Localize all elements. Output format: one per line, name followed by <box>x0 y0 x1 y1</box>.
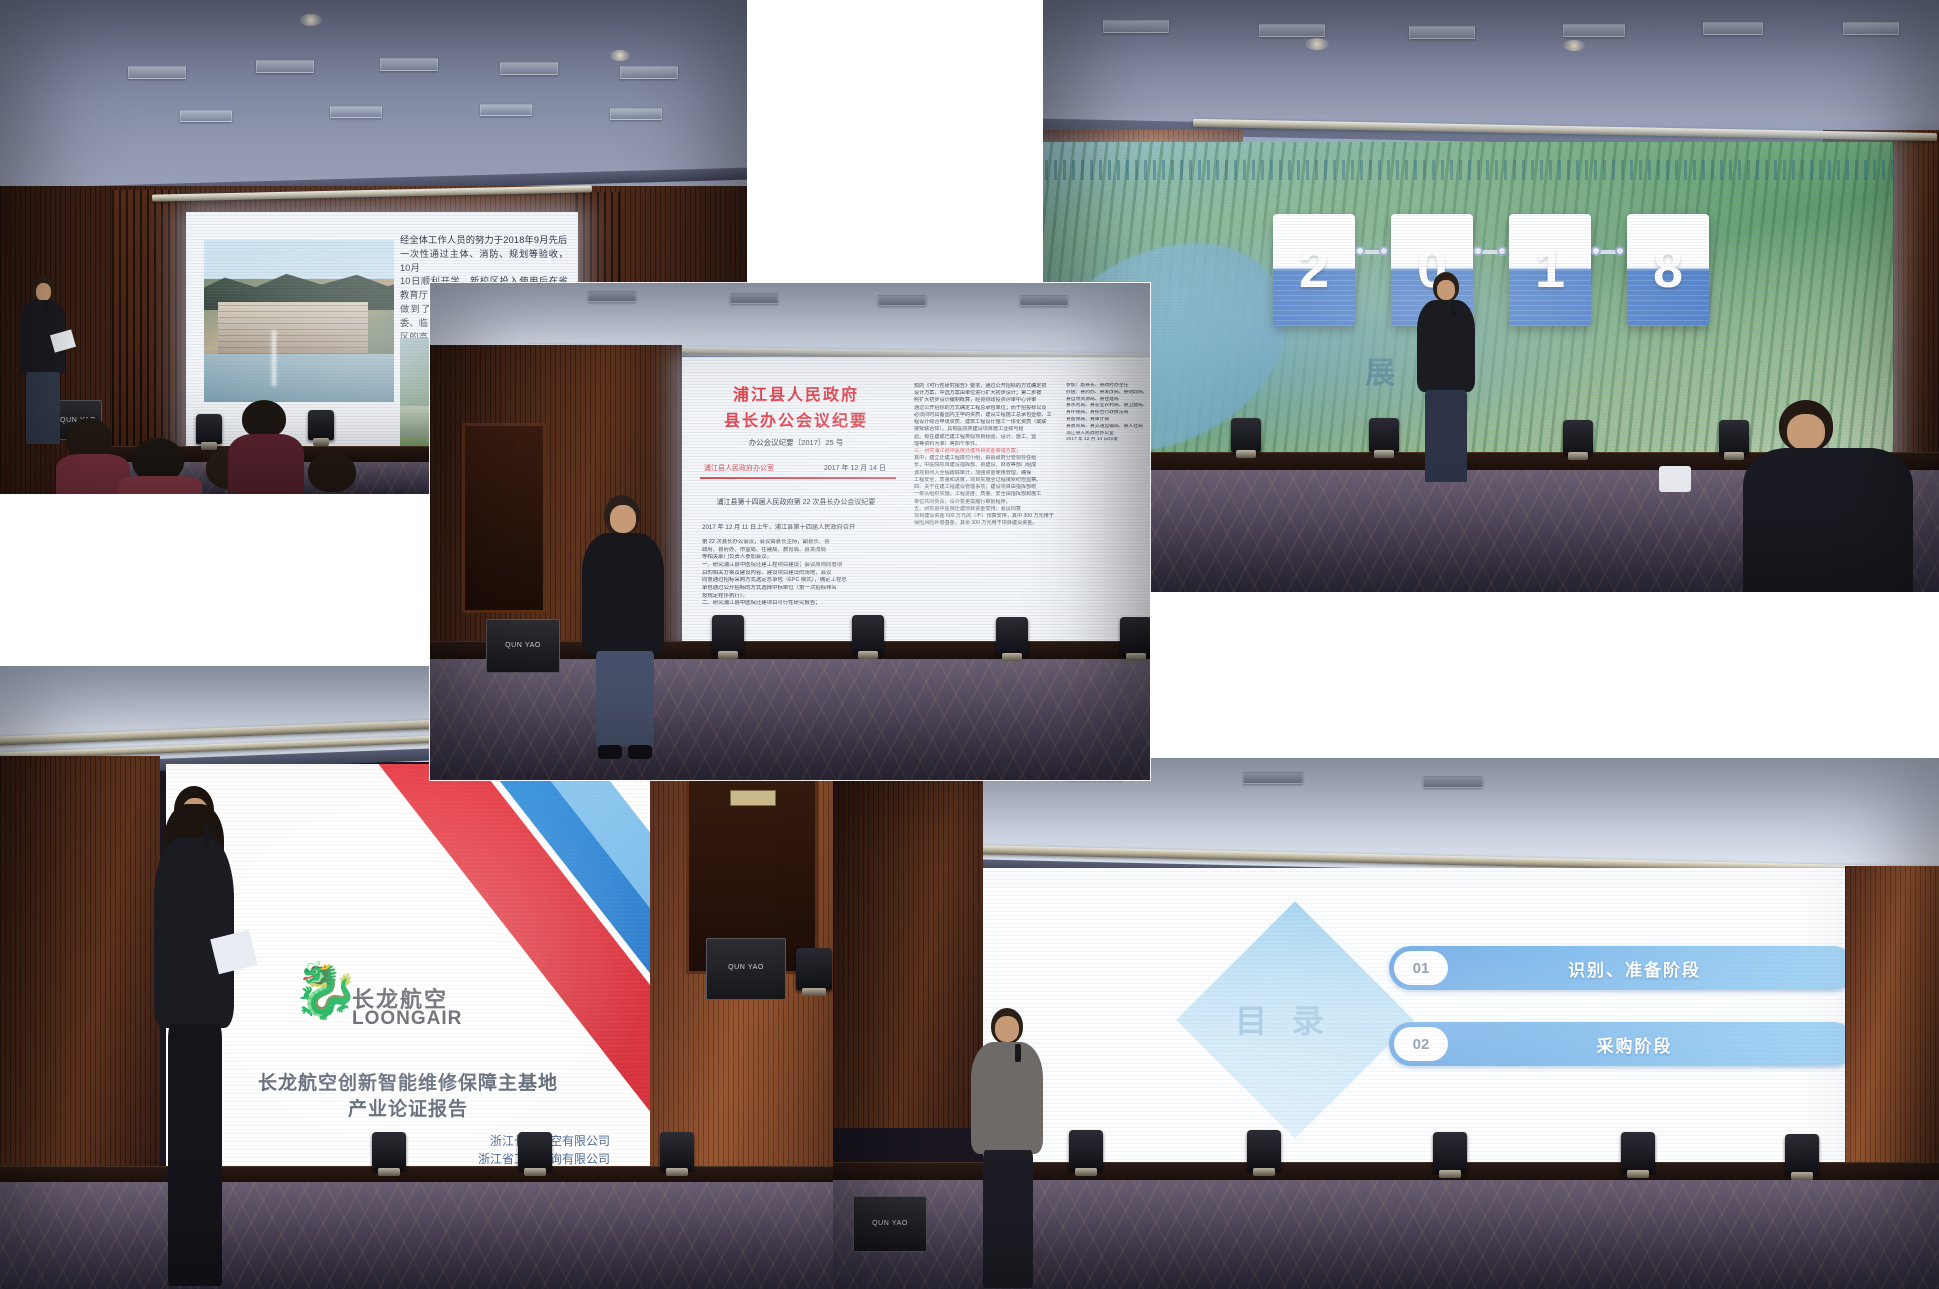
slide-left-column: 第 22 次县长办公会议，会议由县长主持，副县长、县 政府、县府办、市监局、住建… <box>702 539 900 608</box>
ceiling-vent <box>878 295 926 306</box>
flip-pin <box>1591 246 1601 256</box>
stage-light <box>1433 1132 1467 1172</box>
wall-wood-panel <box>0 756 160 1176</box>
stage-light <box>308 410 334 440</box>
projection-screen-minutes: 浦江县人民政府 县长办公会议纪要 办公会议纪要〔2017〕25 号 浦江县人民政… <box>682 357 1150 649</box>
projection-screen-agenda: 目 录 01 识别、准备阶段 02 采购阶段 <box>983 868 1845 1168</box>
slide-subtitle: 浦江县第十四届人民政府第 22 次县长办公会议纪要 <box>690 497 902 507</box>
ceiling-vent <box>1243 772 1303 784</box>
doc-line: 程设计综合甲级资质、建筑工程设计施工一体化资质（或联 <box>914 419 1056 426</box>
doc-line: 抄送：县府办、县发改局、县财政局、县科技局、县国土局 <box>1066 390 1146 397</box>
slide-title-line2: 县长办公会议纪要 <box>690 407 902 431</box>
doc-line: 县自然资源局、县住建局 <box>1066 397 1146 404</box>
downlight <box>300 14 322 26</box>
doc-line: 县环保局、县综合行政执法局 <box>1066 410 1146 417</box>
doc-line: 必须同时具备国内主甲的资质，建设工程施工总承包壹级、工 <box>914 412 1056 419</box>
ceiling-vent <box>1020 295 1068 306</box>
flipcard-digit: 1 <box>1509 214 1591 326</box>
ceiling-vent <box>1103 20 1169 33</box>
ceiling-vent <box>1843 22 1899 35</box>
doc-line: 五、研究县中医院迁建项目资金安排；会议同意 <box>914 506 1056 513</box>
stage-light <box>1247 1130 1281 1170</box>
slide-caption-partial: 展 <box>1365 348 1395 392</box>
screen-scanlines <box>983 868 1845 1168</box>
flip-pin <box>1497 246 1507 256</box>
ceiling-vent <box>1563 24 1625 37</box>
digit-value: 1 <box>1509 242 1591 296</box>
doc-line: 一牵头组织实施，工程进度、质量、安全由指挥部和施工 <box>914 491 1056 498</box>
ceiling-vent <box>380 58 438 71</box>
ceiling-vent <box>1409 26 1475 39</box>
flight-case: QUN YAO <box>486 619 560 673</box>
stage-light <box>1231 418 1261 452</box>
doc-line: 四、关于在建工程建设管理事项；建设项目由指挥部统 <box>914 484 1056 491</box>
ceiling-vent <box>480 104 532 116</box>
doc-line: 县医保局、县审计局 <box>1066 417 1146 424</box>
doc-line: 承包通过公开招标的方式选择中标单位（第一次招标排名 <box>702 585 900 593</box>
presenter-figure <box>140 786 250 1286</box>
stage-light <box>796 948 832 990</box>
stage-light <box>1621 1132 1655 1172</box>
slide-line: 一次性通过主体、消防、规划等验收，10月 <box>400 248 568 276</box>
slide-body-opening: 2017 年 12 月 11 日上午，浦江县第十四届人民政府召开 <box>702 523 898 532</box>
slide-photo-campus <box>204 240 394 402</box>
stage-light <box>1120 617 1150 655</box>
speaker-figure <box>1411 272 1483 482</box>
audience-head <box>228 400 304 494</box>
ceiling-vent <box>1423 776 1483 788</box>
doc-line: 理等资料为准）等四个条件。 <box>914 441 1056 448</box>
slide-middle-column: 知的《可行性研究报告》要求，通过公开招标的方式确定初 设计方案，中选方案由单位进… <box>914 383 1056 527</box>
slide-doc-number: 办公会议纪要〔2017〕25 号 <box>690 437 902 448</box>
speaker-figure <box>961 1008 1057 1288</box>
doc-line: 同意通过招标采购方式选定总承包（EPC 模式），确定工程总 <box>702 577 900 585</box>
doc-line: 等相关部门负责人参加会议。 <box>702 554 900 562</box>
slide-divider <box>700 477 896 479</box>
panel-top-right: 2 0 1 8 展 <box>1043 0 1939 592</box>
case-label: QUN YAO <box>707 964 785 971</box>
flip-pin <box>1615 246 1625 256</box>
slide-line: 经全体工作人员的努力于2018年9月先后 <box>400 234 568 248</box>
doc-line: 通过公开招标的方式确定工程总承包单位；而于招投标以及 <box>914 405 1056 412</box>
flipcard-digit: 2 <box>1273 214 1355 326</box>
slide-right-column: 参加：副县长、县政府办主任 抄送：县府办、县发改局、县财政局、县科技局、县国土局… <box>1066 383 1146 444</box>
speaker-figure <box>572 495 676 763</box>
slide-title-line1: 浦江县人民政府 <box>690 381 902 405</box>
digit-value: 8 <box>1627 242 1709 296</box>
ceiling-vent <box>128 66 186 79</box>
doc-line: 按规定程序执行）。 <box>702 593 900 601</box>
shoe <box>598 745 622 759</box>
flight-case: QUN YAO <box>853 1196 927 1252</box>
panel-center: 浦江县人民政府 县长办公会议纪要 办公会议纪要〔2017〕25 号 浦江县人民政… <box>430 283 1150 780</box>
stage-light <box>712 615 744 653</box>
flip-pin <box>1379 246 1389 256</box>
doc-line: 工程安全、质量和进度，项目实施全过程接受纪检监察。 <box>914 477 1056 484</box>
downlight <box>1305 38 1329 50</box>
doc-line: 县教育局、县交通运输局、县人社局 <box>1066 424 1146 431</box>
flipcard-digit: 8 <box>1627 214 1709 326</box>
doc-line: 三、研究浦江县中医院迁建项目资金筹措方案； <box>914 448 1056 455</box>
ceiling-vent <box>1703 22 1763 35</box>
stage-light <box>1369 418 1399 452</box>
door-sign <box>730 790 776 806</box>
ceiling-vent <box>500 62 558 75</box>
stage-floor <box>430 659 1150 780</box>
stage-light <box>1563 420 1593 454</box>
doc-line: 项目建设资金 600 万元的（不）预算安排，其中 300 万元用于 <box>914 513 1056 520</box>
cup <box>1659 466 1691 492</box>
stage-light <box>852 615 884 653</box>
doc-line: 单位共同负责，设计变更需履行审批程序。 <box>914 499 1056 506</box>
flip-pin <box>1355 246 1365 256</box>
stage-light <box>996 617 1028 655</box>
doc-line: 参加：副县长、县政府办主任 <box>1066 383 1146 390</box>
stage-light <box>1785 1134 1819 1174</box>
doc-line: 目的相关方案及建设内容。建设项目建设的场地，会议 <box>702 570 900 578</box>
doc-line: 接受联合体）。具有医院类建设项目施工业绩与经 <box>914 426 1056 433</box>
doc-line: 其中，建立迁建工程拨付小组，由县政府分管领导任组 <box>914 455 1056 462</box>
tree-line <box>1043 160 1893 180</box>
doc-line: 第 22 次县长办公会议，会议由县长主持，副县长、县 <box>702 539 900 547</box>
panel-bottom-right: 目 录 01 识别、准备阶段 02 采购阶段 QUN YAO <box>833 758 1939 1289</box>
doc-line: 政府、县府办、市监局、住建局、教育局、县发改局 <box>702 547 900 555</box>
doc-line: 设计方案，中选方案由单位进行扩大初步设计；第二步按 <box>914 390 1056 397</box>
ceiling-vent <box>730 293 778 304</box>
audience-head <box>300 452 370 494</box>
downlight <box>1563 40 1585 51</box>
doc-line: 验。有在建或已建工程类似项目经验、设计、施工、监 <box>914 434 1056 441</box>
shoe <box>628 745 652 759</box>
digit-value: 2 <box>1273 242 1355 296</box>
doc-line: 县水利局、县农业农村局、县卫健局、县市场监管局 <box>1066 403 1146 410</box>
case-label: QUN YAO <box>854 1220 926 1227</box>
stage-light <box>1069 1130 1103 1170</box>
door <box>462 423 546 613</box>
ceiling-vent <box>620 66 678 79</box>
doc-line: 知的《可行性研究报告》要求，通过公开招标的方式确定初 <box>914 383 1056 390</box>
photo-collage: 经全体工作人员的努力于2018年9月先后 一次性通过主体、消防、规划等验收，10… <box>0 0 1939 1289</box>
flight-case: QUN YAO <box>706 938 786 1000</box>
stage-light <box>372 1132 406 1170</box>
downlight <box>610 50 630 61</box>
doc-line: 2017 年 12 月 14 日印发 <box>1066 437 1146 444</box>
ceiling-vent <box>588 291 636 302</box>
doc-line: 一、研究浦江县中医院迁建工程项目建设；会议原则同意项 <box>702 562 900 570</box>
doc-line: 长，中医院项目建设指挥部、县建设、财政等部门组成 <box>914 462 1056 469</box>
seated-guest <box>1743 400 1913 592</box>
ceiling-vent <box>256 60 314 73</box>
ceiling-vent <box>180 110 232 122</box>
doc-line: 二、研究浦江县中医院迁建项目可行性研究报告； <box>702 600 900 608</box>
stage-floor <box>0 1182 906 1289</box>
slide-issuer: 浦江县人民政府办公室 <box>704 463 774 473</box>
ceiling-vent <box>1259 24 1325 37</box>
doc-line: 保险风险补偿基金，其余 300 万元用于项目建设资金。 <box>914 520 1056 527</box>
case-label: QUN YAO <box>487 642 559 649</box>
doc-line: 浦江县人民政府办公室 <box>1066 431 1146 438</box>
ceiling-vent <box>330 106 382 118</box>
ceiling-vent <box>610 108 662 120</box>
flip-pin <box>1473 246 1483 256</box>
doc-line: 照扩大初步设计编制概算，经县财政投资评审中心评审 <box>914 397 1056 404</box>
stage-light <box>518 1132 552 1170</box>
slide-date: 2017 年 12 月 14 日 <box>824 463 886 473</box>
doc-line: 该项目列入全程跟踪审计，加强资金使用管理，确保 <box>914 470 1056 477</box>
wall-wood-panel <box>1845 866 1939 1196</box>
stage-light <box>660 1132 694 1170</box>
